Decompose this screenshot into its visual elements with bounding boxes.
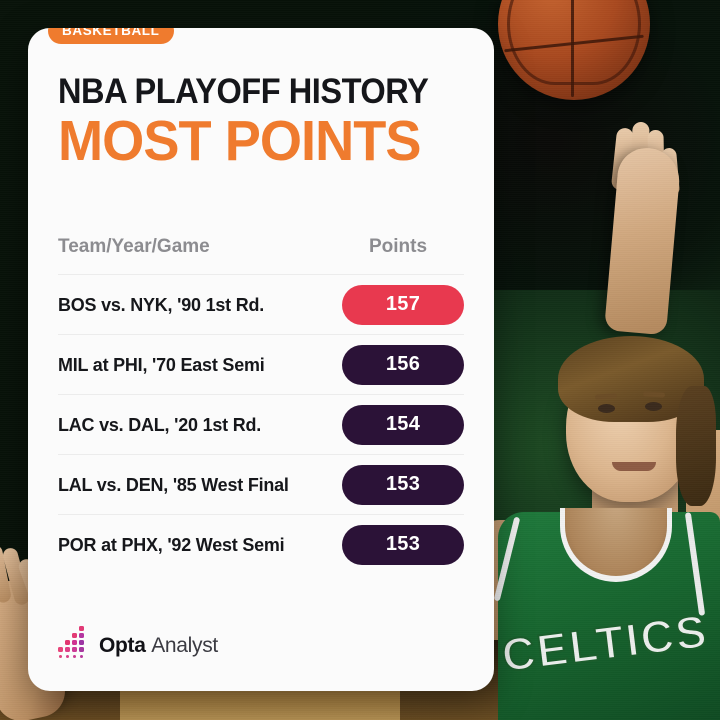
opta-logo-cell xyxy=(79,633,84,638)
player-eyebrow xyxy=(643,391,665,397)
opta-logo-text: Opta Analyst xyxy=(99,634,218,658)
opta-logo-cell xyxy=(72,640,77,645)
row-team-label: POR at PHX, '92 West Semi xyxy=(58,534,333,556)
row-team-label: MIL at PHI, '70 East Semi xyxy=(58,354,333,376)
opta-logo-cell xyxy=(72,633,77,638)
opta-logo-cell xyxy=(66,655,69,658)
stat-card: BASKETBALL NBA PLAYOFF HISTORY MOST POIN… xyxy=(28,28,494,691)
jersey-wordmark: CELTICS xyxy=(497,603,712,682)
player-hair-side xyxy=(676,386,716,506)
row-team-label: BOS vs. NYK, '90 1st Rd. xyxy=(58,294,333,316)
table-row: BOS vs. NYK, '90 1st Rd.157 xyxy=(58,274,464,334)
page-title-line1: NBA PLAYOFF HISTORY xyxy=(58,74,436,109)
row-points-pill: 153 xyxy=(342,525,464,565)
category-badge: BASKETBALL xyxy=(48,28,174,44)
logo-light-word: Analyst xyxy=(151,634,218,657)
player-eye xyxy=(645,402,662,411)
opta-logo-cell xyxy=(79,640,84,645)
opta-logo-cell xyxy=(80,655,83,658)
table-row: LAL vs. DEN, '85 West Final153 xyxy=(58,454,464,514)
table-header: Team/Year/Game Points xyxy=(58,236,464,272)
row-team-label: LAL vs. DEN, '85 West Final xyxy=(58,474,333,496)
player-eye xyxy=(598,404,615,413)
opta-logo-cell xyxy=(79,647,84,652)
row-points-pill: 156 xyxy=(342,345,464,385)
card-content: NBA PLAYOFF HISTORY MOST POINTS Team/Yea… xyxy=(28,28,494,574)
opta-logo-icon xyxy=(58,632,88,659)
column-header-team: Team/Year/Game xyxy=(58,236,332,258)
opta-logo-cell xyxy=(65,640,70,645)
row-points-pill: 154 xyxy=(342,405,464,445)
logo-bold-word: Opta xyxy=(99,634,146,657)
infographic-root: CELTICS BASKETBALL NBA PLAYOFF HISTORY M… xyxy=(0,0,720,720)
page-title-line2: MOST POINTS xyxy=(58,112,444,170)
player-mouth xyxy=(612,462,656,471)
table-row: POR at PHX, '92 West Semi153 xyxy=(58,514,464,574)
table-row: LAC vs. DAL, '20 1st Rd.154 xyxy=(58,394,464,454)
opta-logo-cell xyxy=(79,626,84,631)
opta-logo-cell xyxy=(65,647,70,652)
opta-logo-cell xyxy=(73,655,76,658)
column-header-points: Points xyxy=(332,236,464,258)
row-team-label: LAC vs. DAL, '20 1st Rd. xyxy=(58,414,333,436)
table-body: BOS vs. NYK, '90 1st Rd.157MIL at PHI, '… xyxy=(58,274,464,574)
row-points-pill: 157 xyxy=(342,285,464,325)
row-points-pill: 153 xyxy=(342,465,464,505)
table-row: MIL at PHI, '70 East Semi156 xyxy=(58,334,464,394)
celtics-jersey: CELTICS xyxy=(498,512,720,720)
opta-logo-cell xyxy=(72,647,77,652)
brand-footer: Opta Analyst xyxy=(58,632,218,659)
opta-logo-cell xyxy=(58,647,63,652)
opta-logo-cell xyxy=(59,655,62,658)
